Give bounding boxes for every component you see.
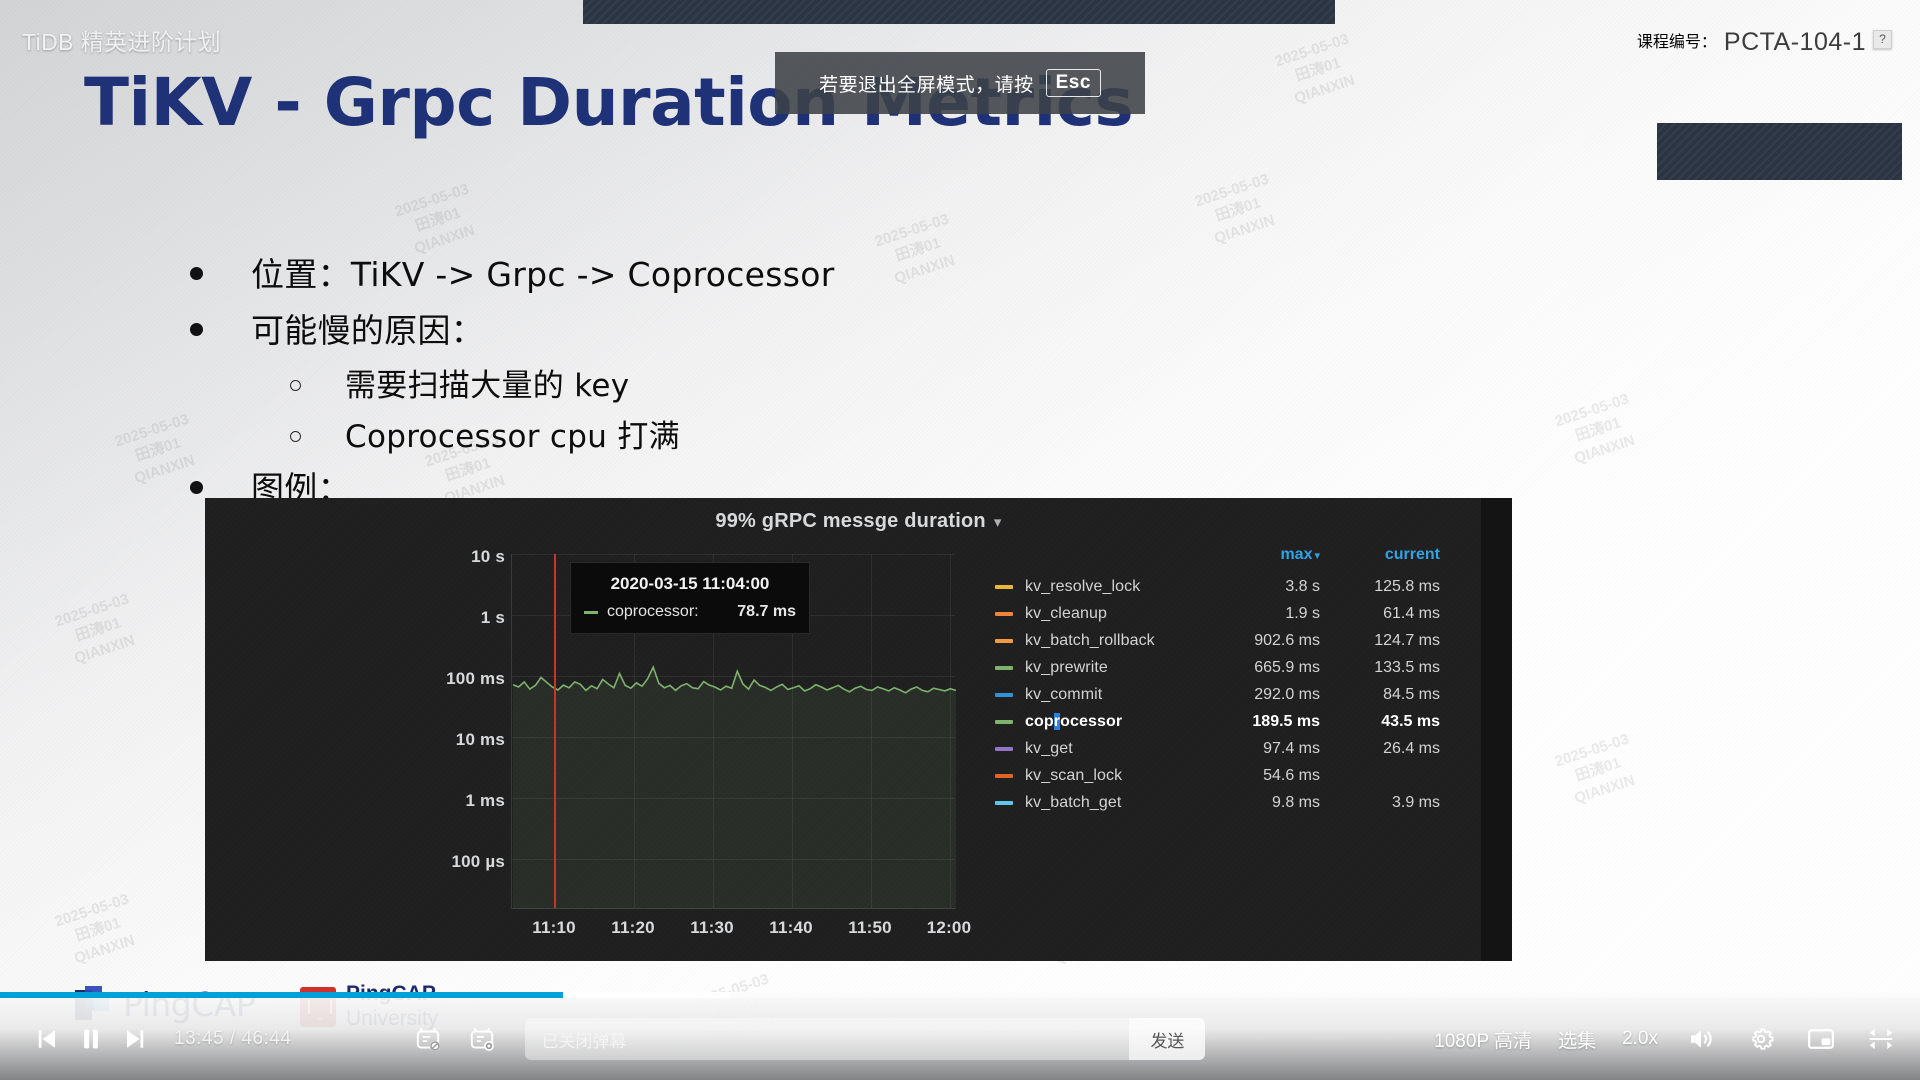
series-color-swatch-icon [995, 693, 1013, 697]
legend-row[interactable]: kv_commit292.0 ms84.5 ms [995, 681, 1440, 708]
tooltip-series-row: coprocessor: 78.7 ms [584, 603, 796, 621]
bullet-dot-icon [190, 267, 203, 280]
x-tick-label: 11:50 [848, 918, 892, 938]
legend-series-name: coprocessor [1025, 713, 1200, 731]
volume-icon[interactable] [1684, 1022, 1718, 1056]
list-item: Coprocessor cpu 打满 [190, 411, 1390, 456]
slide-brand: TiDB 精英进阶计划 [22, 23, 221, 57]
speed-selector[interactable]: 2.0x [1622, 1028, 1658, 1050]
y-tick-label: 100 ms [205, 669, 505, 689]
legend-series-name: kv_batch_rollback [1025, 632, 1200, 650]
watermark-tile: 2025-05-03田涛01QIANXIN [1192, 170, 1284, 251]
y-axis: 10 s 1 s 100 ms 10 ms 1 ms 100 µs [205, 498, 505, 961]
legend-max-value: 1.9 s [1200, 605, 1320, 623]
list-item-label: 位置：TiKV -> Grpc -> Coprocessor [251, 248, 835, 296]
quality-selector[interactable]: 1080P 高清 [1434, 1026, 1532, 1053]
playback-time: 13:45 / 46:44 [174, 1028, 291, 1050]
help-icon[interactable]: ? [1873, 30, 1892, 49]
y-tick-label: 10 s [205, 547, 505, 567]
legend-series-name: kv_resolve_lock [1025, 578, 1200, 596]
legend-current-value: 125.8 ms [1320, 578, 1440, 596]
series-color-swatch-icon [995, 666, 1013, 670]
legend-max-value: 97.4 ms [1200, 740, 1320, 758]
list-item-label: 需要扫描大量的 key [345, 360, 629, 405]
series-color-swatch-icon [584, 611, 598, 614]
tooltip-timestamp: 2020-03-15 11:04:00 [584, 574, 796, 594]
legend-max-value: 54.6 ms [1200, 767, 1320, 785]
y-tick-label: 1 s [205, 608, 505, 628]
y-tick-label: 1 ms [205, 791, 505, 811]
tooltip-series-value: 78.7 ms [737, 603, 796, 621]
bullet-list: 位置：TiKV -> Grpc -> Coprocessor 可能慢的原因： 需… [190, 248, 1390, 518]
list-item-label: Coprocessor cpu 打满 [345, 411, 680, 456]
series-color-swatch-icon [995, 720, 1013, 724]
chart-title-text: 99% gRPC messge duration [715, 510, 985, 532]
legend-row[interactable]: kv_batch_get9.8 ms3.9 ms [995, 789, 1440, 816]
course-number-label: 课程编号： [1637, 28, 1717, 52]
watermark-tile: 2025-05-03田涛01QIANXIN [1552, 730, 1644, 811]
bullet-circle-icon [290, 380, 301, 391]
series-color-swatch-icon [995, 639, 1013, 643]
tooltip-series-name: coprocessor [607, 603, 694, 621]
legend-row[interactable]: coprocessor189.5 ms43.5 ms [995, 708, 1440, 735]
series-color-swatch-icon [995, 774, 1013, 778]
slide-canvas: TiDB 精英进阶计划 课程编号： PCTA-104-1 ? TiKV - Gr… [0, 0, 1920, 1080]
list-item: 位置：TiKV -> Grpc -> Coprocessor [190, 248, 1390, 296]
watermark-tile: 2025-05-03田涛01QIANXIN [52, 590, 144, 671]
legend-current-value: 3.9 ms [1320, 794, 1440, 812]
danmaku-settings-icon[interactable] [465, 1022, 499, 1056]
decorative-hatch-strip [583, 0, 1335, 24]
watermark-tile: 2025-05-03田涛01QIANXIN [52, 890, 144, 971]
danmaku-placeholder: 已关闭弹幕 [525, 1027, 1129, 1052]
chart-cursor-line [554, 554, 556, 908]
legend-header-max[interactable]: max▾ [1200, 546, 1320, 564]
legend-current-value: 43.5 ms [1320, 713, 1440, 731]
course-number-value: PCTA-104-1 [1724, 28, 1866, 57]
widescreen-icon[interactable] [1864, 1022, 1898, 1056]
chart-legend: max▾ current kv_resolve_lock3.8 s125.8 m… [995, 546, 1440, 816]
chart-hover-tooltip: 2020-03-15 11:04:00 coprocessor: 78.7 ms [570, 562, 810, 634]
grafana-panel: 99% gRPC messge duration▾ 10 s 1 s 100 m… [205, 498, 1512, 961]
bullet-dot-icon [190, 323, 203, 336]
esc-key-badge: Esc [1046, 69, 1101, 97]
y-tick-label: 10 ms [205, 730, 505, 750]
time-total: 46:44 [241, 1028, 291, 1049]
legend-current-value: 124.7 ms [1320, 632, 1440, 650]
legend-max-value: 9.8 ms [1200, 794, 1320, 812]
legend-row[interactable]: kv_prewrite665.9 ms133.5 ms [995, 654, 1440, 681]
legend-max-value: 902.6 ms [1200, 632, 1320, 650]
bullet-dot-icon [190, 481, 203, 494]
episodes-button[interactable]: 选集 [1558, 1026, 1596, 1053]
watermark-tile: 2025-05-03田涛01QIANXIN [1272, 30, 1364, 111]
series-color-swatch-icon [995, 585, 1013, 589]
chevron-down-icon[interactable]: ▾ [994, 514, 1002, 531]
legend-max-value: 292.0 ms [1200, 686, 1320, 704]
list-item-label: 可能慢的原因： [251, 304, 484, 352]
fullscreen-hint-text: 若要退出全屏模式，请按 [819, 70, 1034, 97]
time-separator: / [230, 1028, 236, 1049]
legend-series-name: kv_cleanup [1025, 605, 1200, 623]
legend-current-value: 133.5 ms [1320, 659, 1440, 677]
decorative-hatch-box [1657, 123, 1902, 180]
legend-header-current[interactable]: current [1320, 546, 1440, 564]
legend-series-name: kv_batch_get [1025, 794, 1200, 812]
legend-row-container: kv_resolve_lock3.8 s125.8 mskv_cleanup1.… [995, 573, 1440, 816]
time-current: 13:45 [174, 1028, 224, 1049]
legend-series-name: kv_commit [1025, 686, 1200, 704]
danmaku-buttons [411, 1022, 499, 1056]
x-tick-label: 11:10 [532, 918, 576, 938]
send-button[interactable]: 发送 [1129, 1018, 1205, 1060]
x-tick-label: 11:30 [690, 918, 734, 938]
picture-in-picture-icon[interactable] [1804, 1022, 1838, 1056]
legend-current-value: 61.4 ms [1320, 605, 1440, 623]
danmaku-input[interactable]: 已关闭弹幕 发送 [525, 1018, 1205, 1060]
legend-row[interactable]: kv_batch_rollback902.6 ms124.7 ms [995, 627, 1440, 654]
gear-icon[interactable] [1744, 1022, 1778, 1056]
panel-right-edge [1481, 498, 1512, 961]
x-tick-label: 12:00 [927, 918, 971, 938]
legend-row[interactable]: kv_get97.4 ms26.4 ms [995, 735, 1440, 762]
text-selection-highlight: r [1054, 713, 1060, 730]
next-icon[interactable] [114, 1016, 160, 1062]
list-item: 需要扫描大量的 key [190, 360, 1390, 405]
legend-current-value: 26.4 ms [1320, 740, 1440, 758]
legend-series-name: kv_get [1025, 740, 1200, 758]
legend-series-name: kv_prewrite [1025, 659, 1200, 677]
legend-row[interactable]: kv_resolve_lock3.8 s125.8 ms [995, 573, 1440, 600]
legend-header-row: max▾ current [995, 546, 1440, 564]
bullet-circle-icon [290, 431, 301, 442]
x-tick-label: 11:20 [611, 918, 655, 938]
course-number: 课程编号： PCTA-104-1 ? [1637, 28, 1892, 57]
legend-max-value: 665.9 ms [1200, 659, 1320, 677]
legend-row[interactable]: kv_scan_lock54.6 ms [995, 762, 1440, 789]
video-player: TiDB 精英进阶计划 课程编号： PCTA-104-1 ? TiKV - Gr… [0, 0, 1920, 1080]
legend-current-value: 84.5 ms [1320, 686, 1440, 704]
previous-icon[interactable] [22, 1016, 68, 1062]
series-color-swatch-icon [995, 801, 1013, 805]
list-item: 可能慢的原因： [190, 304, 1390, 352]
legend-row[interactable]: kv_cleanup1.9 s61.4 ms [995, 600, 1440, 627]
legend-max-value: 3.8 s [1200, 578, 1320, 596]
series-color-swatch-icon [995, 747, 1013, 751]
series-color-swatch-icon [995, 612, 1013, 616]
pause-icon[interactable] [68, 1016, 114, 1062]
fullscreen-exit-hint: 若要退出全屏模式，请按 Esc [775, 52, 1145, 114]
right-controls: 1080P 高清 选集 2.0x [1434, 1022, 1898, 1056]
x-tick-label: 11:40 [769, 918, 813, 938]
legend-series-name: kv_scan_lock [1025, 767, 1200, 785]
player-control-bar: 13:45 / 46:44 [0, 992, 1920, 1080]
legend-max-value: 189.5 ms [1200, 713, 1320, 731]
watermark-tile: 2025-05-03田涛01QIANXIN [1552, 390, 1644, 471]
y-tick-label: 100 µs [205, 852, 505, 872]
danmaku-off-icon[interactable] [411, 1022, 445, 1056]
